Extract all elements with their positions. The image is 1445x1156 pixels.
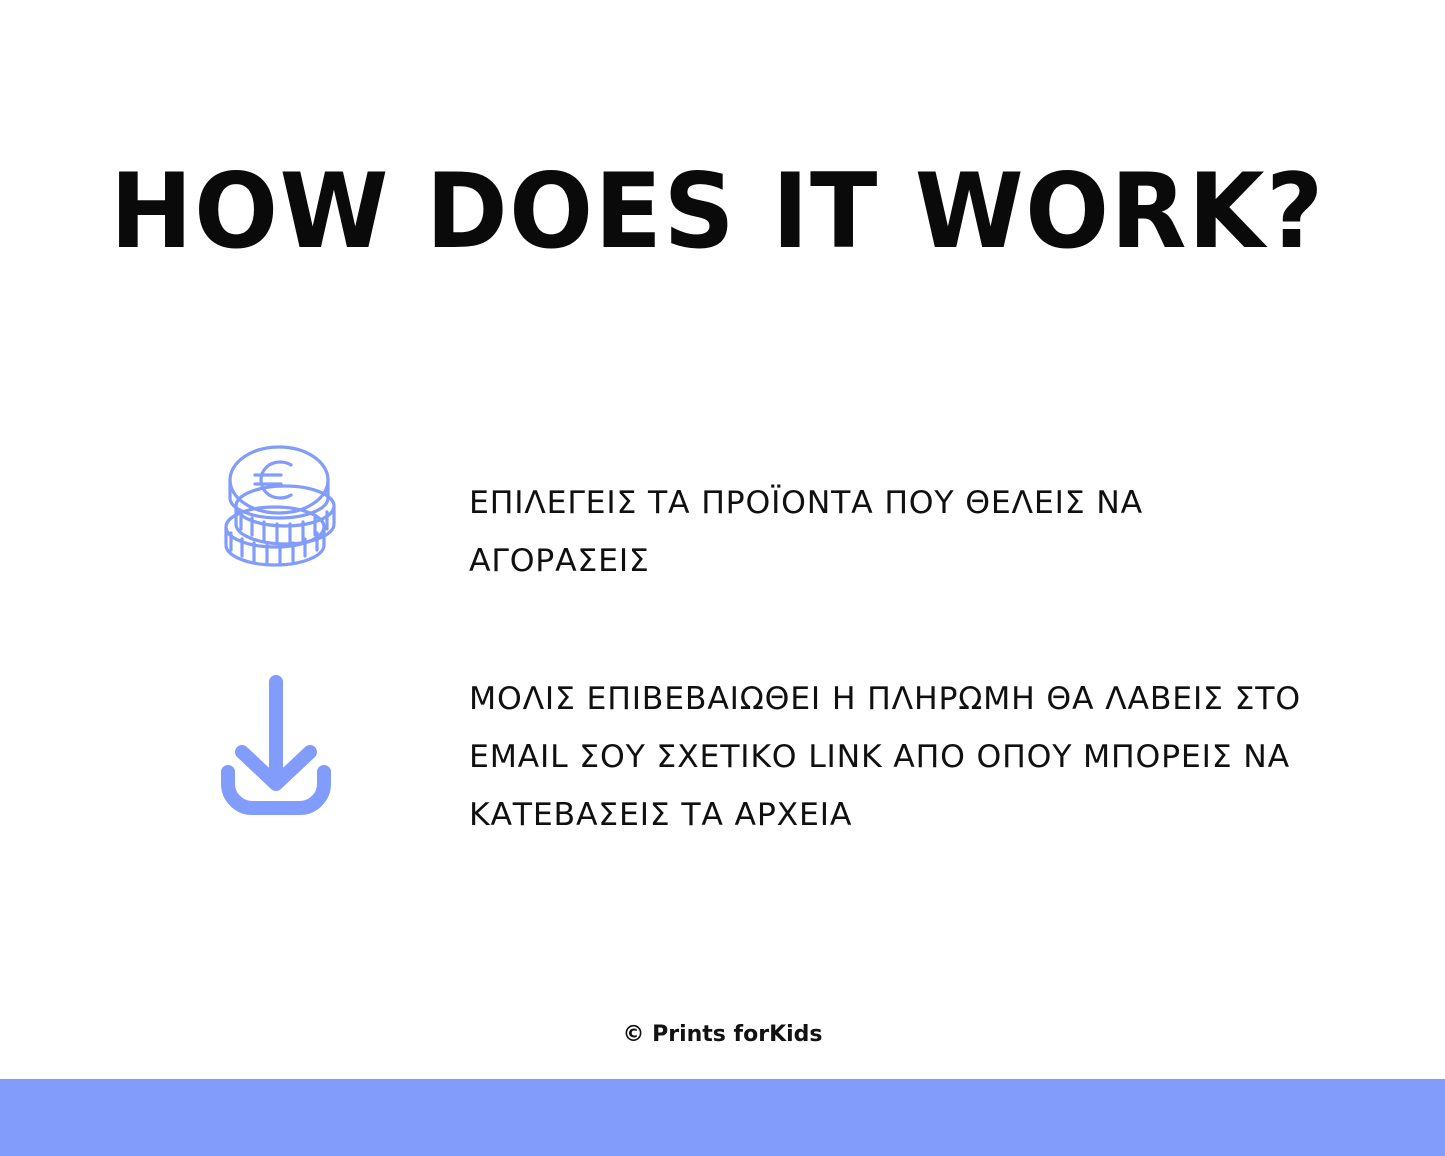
footer-watermark: © Prints forKids [0,1022,1445,1047]
bottom-accent-bar [0,1079,1445,1156]
page-title: HOW DOES IT WORK? [110,158,1290,266]
step-item-2: ΜΟΛΙΣ ΕΠΙΒΕΒΑΙΩΘΕΙ Η ΠΛΗΡΩΜΗ ΘΑ ΛΑΒΕΙΣ Σ… [214,664,1301,844]
step-item-1: ΕΠΙΛΕΓΕΙΣ ΤΑ ΠΡΟΪΟΝΤΑ ΠΟΥ ΘΕΛΕΙΣ ΝΑ ΑΓΟΡ… [214,432,1329,590]
coin-stack-euro-icon [214,432,354,582]
slide-canvas: HOW DOES IT WORK? [0,0,1445,1156]
download-icon [214,664,354,824]
step-text-1: ΕΠΙΛΕΓΕΙΣ ΤΑ ΠΡΟΪΟΝΤΑ ΠΟΥ ΘΕΛΕΙΣ ΝΑ ΑΓΟΡ… [469,432,1329,590]
step-text-2: ΜΟΛΙΣ ΕΠΙΒΕΒΑΙΩΘΕΙ Η ΠΛΗΡΩΜΗ ΘΑ ΛΑΒΕΙΣ Σ… [469,664,1301,844]
